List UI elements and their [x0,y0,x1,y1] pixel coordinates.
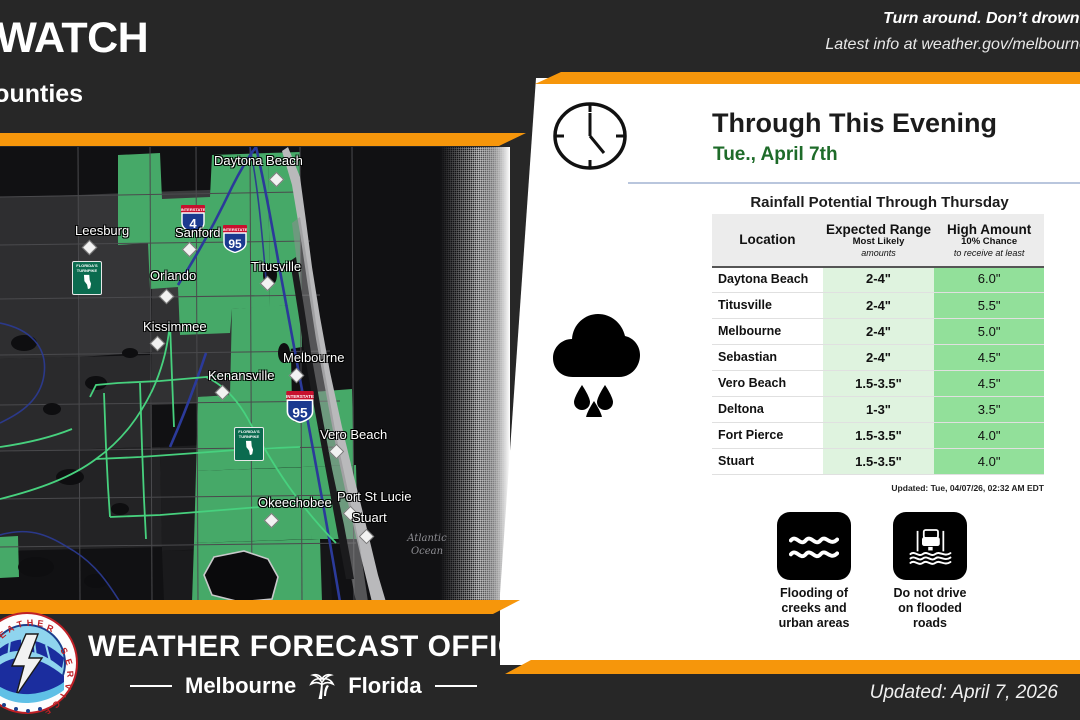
cell-expected-range: 1.5-3.5" [823,448,935,474]
svg-text:95: 95 [292,405,308,420]
city-label: Port St Lucie [337,489,411,504]
cell-high-amount: 5.0" [934,318,1044,344]
cap-line: on flooded [893,601,967,616]
safety-item-do-not-drive: Do not drive on flooded roads [893,512,967,631]
col-header-high-amount-sub2: to receive at least [954,248,1025,258]
col-header-expected-range-sub: Most Likely [853,237,905,248]
cell-expected-range: 2-4" [823,318,935,344]
col-header-expected-range-sub2: amounts [861,248,896,258]
table-row: Titusville2-4"5.5" [712,292,1044,318]
col-header-expected-range-label: Expected Range [826,222,931,238]
cell-expected-range: 1.5-3.5" [823,370,935,396]
safety-caption-do-not-drive: Do not drive on flooded roads [893,586,967,631]
cell-location: Melbourne [712,318,823,344]
city-label: Vero Beach [320,427,387,442]
table-row: Sebastian2-4"4.5" [712,344,1044,370]
cell-location: Daytona Beach [712,266,823,292]
col-header-location: Location [712,214,823,266]
cell-location: Titusville [712,292,823,318]
cell-location: Stuart [712,448,823,474]
table-updated-stamp: Updated: Tue, 04/07/26, 02:32 AM EDT [712,483,1044,493]
cell-high-amount: 4.5" [934,344,1044,370]
office-title: WEATHER FORECAST OFFICE [88,630,541,664]
table-title: Rainfall Potential Through Thursday [712,194,1047,211]
weather-graphic: INTERSTATE 4 INTERSTATE 95 INTERSTATE 95… [0,0,1080,720]
col-header-high-amount-sub: 10% Chance [961,237,1017,248]
city-label: Okeechobee [258,495,332,510]
page-subtitle: tal Counties [0,80,83,109]
flooding-waves-icon [777,512,851,580]
svg-text:INTERSTATE: INTERSTATE [223,227,248,232]
table-head: Location Expected Range Most Likely amou… [712,214,1044,266]
city-label: Kissimmee [143,319,207,334]
cell-high-amount: 3.5" [934,396,1044,422]
ocean-label: Atlantic Ocean [398,532,456,558]
safety-slogan: Turn around. Don’t drown. [883,10,1080,28]
section-date: Tue., April 7th [713,144,838,166]
city-label: Orlando [150,268,196,283]
svg-text:95: 95 [228,237,242,251]
turnpike-label-2: TURNPIKE [77,269,97,274]
city-label: Titusville [251,259,301,274]
table-row: Vero Beach1.5-3.5"4.5" [712,370,1044,396]
svg-text:INTERSTATE: INTERSTATE [286,394,314,399]
i-95-shield-north: INTERSTATE 95 [222,225,248,253]
table-header-row: Location Expected Range Most Likely amou… [712,214,1044,266]
section-title: Through This Evening [712,108,997,139]
rainfall-table: Location Expected Range Most Likely amou… [712,214,1044,475]
cell-expected-range: 1-3" [823,396,935,422]
accent-bar-bottom-left [0,600,520,614]
cell-expected-range: 1.5-3.5" [823,422,935,448]
cell-high-amount: 4.5" [934,370,1044,396]
city-label: Leesburg [75,223,129,238]
svg-text:INTERSTATE: INTERSTATE [181,207,206,212]
cell-location: Sebastian [712,344,823,370]
accent-bar-bottom-right [505,660,1080,674]
cap-line: roads [893,616,967,631]
cell-high-amount: 4.0" [934,448,1044,474]
cell-expected-range: 2-4" [823,344,935,370]
office-city: Melbourne [185,673,296,699]
safety-item-flooding: Flooding of creeks and urban areas [777,512,851,631]
city-label: Melbourne [283,350,344,365]
table-row: Deltona1-3"3.5" [712,396,1044,422]
footer-updated: Updated: April 7, 2026 [870,682,1058,704]
turnpike-shield-north: FLORIDA'S TURNPIKE [72,261,102,295]
florida-outline-icon [83,274,92,290]
cell-location: Fort Pierce [712,422,823,448]
ocean-label-line1: Atlantic [398,532,456,545]
safety-caption-flooding: Flooding of creeks and urban areas [777,586,851,631]
accent-bar-top-right [535,72,1080,84]
panel-divider [628,182,1080,184]
city-label: Kenansville [208,368,275,383]
divider-dash-right [435,685,477,687]
table-row: Melbourne2-4"5.0" [712,318,1044,344]
i-95-shield-south: INTERSTATE 95 [285,391,315,423]
cell-expected-range: 2-4" [823,266,935,292]
svg-text:H: H [26,618,33,628]
divider-dash-left [130,685,172,687]
accent-bar-top-left [0,133,536,146]
table-header-rule [712,266,1044,268]
office-location: Melbourne Florida [130,672,477,700]
cell-high-amount: 5.5" [934,292,1044,318]
do-not-drive-flooded-road-icon [893,512,967,580]
turnpike-label-2: TURNPIKE [239,435,259,440]
table-row: Stuart1.5-3.5"4.0" [712,448,1044,474]
nws-logo: W E A T H E R S E R V I C E N [0,612,78,714]
city-label: Daytona Beach [214,153,303,168]
col-header-high-amount: High Amount 10% Chance to receive at lea… [934,214,1044,266]
rain-cloud-icon [551,305,641,417]
cell-location: Deltona [712,396,823,422]
page-title-strong: WATCH [0,14,148,62]
ocean-label-line2: Ocean [398,545,456,558]
clock-icon [551,101,629,171]
col-header-location-label: Location [739,232,795,248]
cap-line: Flooding of [777,586,851,601]
svg-text:R: R [65,670,75,678]
cell-high-amount: 4.0" [934,422,1044,448]
cap-line: Do not drive [893,586,967,601]
table-row: Daytona Beach2-4"6.0" [712,266,1044,292]
cap-line: creeks and [777,601,851,616]
table-body: Daytona Beach2-4"6.0"Titusville2-4"5.5"M… [712,266,1044,474]
city-label: Sanford [175,225,221,240]
table-row: Fort Pierce1.5-3.5"4.0" [712,422,1044,448]
cap-line: urban areas [777,616,851,631]
cell-location: Vero Beach [712,370,823,396]
city-label: Stuart [352,510,387,525]
col-header-high-amount-label: High Amount [947,222,1031,238]
page-title: od WATCH [0,14,148,63]
office-state: Florida [348,673,421,699]
col-header-expected-range: Expected Range Most Likely amounts [823,214,935,266]
turnpike-shield-south: FLORIDA'S TURNPIKE [234,427,264,461]
cell-high-amount: 6.0" [934,266,1044,292]
cell-expected-range: 2-4" [823,292,935,318]
florida-outline-icon [245,440,254,456]
latest-info-link[interactable]: Latest info at weather.gov/melbourne [825,36,1080,54]
palm-tree-icon [309,672,335,700]
